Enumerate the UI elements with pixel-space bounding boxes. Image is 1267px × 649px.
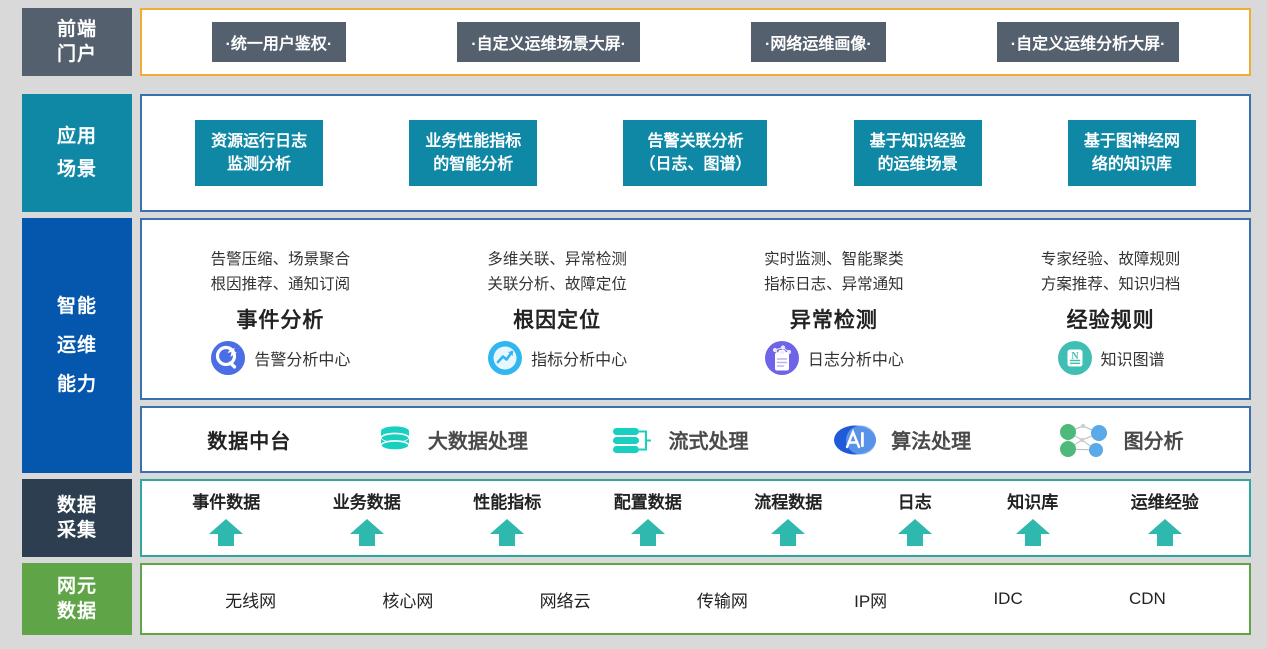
app-chip-line-2: 络的知识库 — [1084, 153, 1180, 176]
data-collection-row: 数据 采集 事件数据 业务数据 性能指标 配置数据 流程数据 — [0, 479, 1251, 557]
capability-line-1: 多维关联、异常检测 — [487, 248, 627, 272]
app-chip-line-2: 的智能分析 — [425, 153, 521, 176]
network-element-data-row: 网元 数据 无线网 核心网 网络云 传输网 IP网 IDC CDN — [0, 563, 1251, 635]
side-label-line-2: 运维 — [57, 333, 97, 358]
app-chip-gnn-knowledge-base[interactable]: 基于图神经网 络的知识库 — [1068, 120, 1196, 186]
network-element-item-core[interactable]: 核心网 — [382, 587, 433, 612]
portal-chip-custom-analysis-dashboard[interactable]: ·自定义运维分析大屏· — [997, 22, 1180, 62]
capability-experience-rules[interactable]: 专家经验、故障规则 方案推荐、知识归档 经验规则 N — [972, 220, 1249, 398]
up-arrow-icon — [895, 517, 935, 547]
side-label-line-2: 数据 — [57, 599, 97, 624]
app-chip-line-2: 监测分析 — [211, 153, 307, 176]
aiops-capability-side-label: 智能 运维 能力 — [22, 218, 132, 473]
collection-item-label: 业务数据 — [333, 488, 401, 513]
portal-chip-custom-ops-dashboard[interactable]: ·自定义运维场景大屏· — [457, 22, 640, 62]
alarm-analysis-icon — [210, 340, 246, 376]
up-arrow-icon — [1013, 517, 1053, 547]
side-label-line-2: 场景 — [57, 157, 97, 182]
app-chip-alarm-correlation-analysis[interactable]: 告警关联分析 （日志、图谱） — [623, 120, 767, 186]
up-arrow-icon — [347, 517, 387, 547]
portal-chip-unified-auth[interactable]: ·统一用户鉴权· — [212, 22, 347, 62]
side-label-line-2: 采集 — [57, 518, 97, 543]
application-scenario-side-label: 应用 场景 — [22, 94, 132, 212]
side-label-line-1: 智能 — [57, 294, 97, 319]
capability-product[interactable]: 日志分析中心 — [764, 340, 904, 376]
side-label-line-2: 门户 — [57, 42, 97, 67]
app-chip-line-1: 资源运行日志 — [211, 130, 307, 153]
capability-line-2: 根因推荐、通知订阅 — [211, 273, 351, 297]
stream-processing-icon — [610, 422, 656, 458]
data-platform-item-label: 算法处理 — [891, 425, 971, 454]
capability-line-1: 告警压缩、场景聚合 — [211, 248, 351, 272]
ai-algorithm-icon — [831, 422, 879, 458]
app-chip-line-2: （日志、图谱） — [639, 153, 751, 176]
app-chip-line-2: 的运维场景 — [870, 153, 966, 176]
side-label-line-1: 前端 — [57, 17, 97, 42]
up-arrow-icon — [206, 517, 246, 547]
network-element-item-wireless[interactable]: 无线网 — [225, 587, 276, 612]
knowledge-graph-icon: N — [1057, 340, 1093, 376]
up-arrow-icon — [487, 517, 527, 547]
network-element-panel: 无线网 核心网 网络云 传输网 IP网 IDC CDN — [140, 563, 1251, 635]
app-chip-resource-log-monitoring[interactable]: 资源运行日志 监测分析 — [195, 120, 323, 186]
application-scenario-panel: 资源运行日志 监测分析 业务性能指标 的智能分析 告警关联分析 （日志、图谱） … — [140, 94, 1251, 212]
app-chip-line-1: 告警关联分析 — [639, 130, 751, 153]
collection-item-ops-experience[interactable]: 运维经验 — [1131, 481, 1199, 555]
aiops-capability-panel: 告警压缩、场景聚合 根因推荐、通知订阅 事件分析 — [140, 218, 1251, 400]
graph-analysis-icon — [1054, 419, 1112, 461]
capability-product-label: 日志分析中心 — [808, 346, 904, 370]
collection-item-process-data[interactable]: 流程数据 — [754, 481, 822, 555]
frontend-portal-row: 前端 门户 ·统一用户鉴权· ·自定义运维场景大屏· ·网络运维画像· ·自定义… — [0, 8, 1251, 76]
data-platform-item-algorithm[interactable]: 算法处理 — [831, 422, 971, 458]
capability-line-2: 关联分析、故障定位 — [487, 273, 627, 297]
app-chip-line-1: 基于知识经验 — [870, 130, 966, 153]
capability-anomaly-detection[interactable]: 实时监测、智能聚类 指标日志、异常通知 异常检测 — [696, 220, 973, 398]
capability-product-label: 指标分析中心 — [531, 346, 627, 370]
collection-item-performance-kpi[interactable]: 性能指标 — [473, 481, 541, 555]
collection-item-label: 知识库 — [1007, 488, 1058, 513]
data-platform-item-bigdata[interactable]: 大数据处理 — [374, 422, 528, 458]
data-platform-item-label: 大数据处理 — [428, 425, 528, 454]
side-label-line-1: 网元 — [57, 574, 97, 599]
collection-item-event-data[interactable]: 事件数据 — [192, 481, 260, 555]
data-platform-item-label: 流式处理 — [668, 425, 748, 454]
collection-item-label: 配置数据 — [614, 488, 682, 513]
collection-item-config-data[interactable]: 配置数据 — [614, 481, 682, 555]
data-collection-side-label: 数据 采集 — [22, 479, 132, 557]
database-stack-icon — [374, 422, 416, 458]
architecture-diagram: 前端 门户 ·统一用户鉴权· ·自定义运维场景大屏· ·网络运维画像· ·自定义… — [0, 0, 1267, 649]
frontend-portal-panel: ·统一用户鉴权· ·自定义运维场景大屏· ·网络运维画像· ·自定义运维分析大屏… — [140, 8, 1251, 76]
collection-item-business-data[interactable]: 业务数据 — [333, 481, 401, 555]
aiops-capability-row: 智能 运维 能力 告警压缩、场景聚合 根因推荐、通知订阅 事件分析 — [0, 218, 1251, 473]
capability-title: 异常检测 — [790, 304, 878, 334]
capability-product[interactable]: N 知识图谱 — [1057, 340, 1165, 376]
collection-item-logs[interactable]: 日志 — [895, 481, 935, 555]
data-platform-item-stream[interactable]: 流式处理 — [610, 422, 748, 458]
network-element-item-ip[interactable]: IP网 — [854, 587, 887, 612]
data-platform-panel: 数据中台 大数据处理 — [140, 406, 1251, 473]
collection-item-label: 日志 — [898, 488, 932, 513]
app-chip-line-1: 业务性能指标 — [425, 130, 521, 153]
network-element-item-cdn[interactable]: CDN — [1129, 589, 1166, 609]
collection-item-label: 事件数据 — [192, 488, 260, 513]
network-element-item-network-cloud[interactable]: 网络云 — [540, 587, 591, 612]
capability-product[interactable]: 告警分析中心 — [210, 340, 350, 376]
up-arrow-icon — [768, 517, 808, 547]
capability-product[interactable]: 指标分析中心 — [487, 340, 627, 376]
data-collection-panel: 事件数据 业务数据 性能指标 配置数据 流程数据 日志 — [140, 479, 1251, 557]
network-element-item-idc[interactable]: IDC — [993, 589, 1022, 609]
app-chip-business-kpi-analysis[interactable]: 业务性能指标 的智能分析 — [409, 120, 537, 186]
capability-product-label: 告警分析中心 — [254, 346, 350, 370]
capability-line-2: 方案推荐、知识归档 — [1041, 273, 1181, 297]
capability-title: 经验规则 — [1067, 304, 1155, 334]
frontend-portal-side-label: 前端 门户 — [22, 8, 132, 76]
collection-item-label: 流程数据 — [754, 488, 822, 513]
capability-line-2: 指标日志、异常通知 — [764, 273, 904, 297]
side-label-line-1: 数据 — [57, 493, 97, 518]
capability-root-cause-location[interactable]: 多维关联、异常检测 关联分析、故障定位 根因定位 指标分析中心 — [419, 220, 696, 398]
capability-title: 事件分析 — [236, 304, 324, 334]
collection-item-knowledge-base[interactable]: 知识库 — [1007, 481, 1058, 555]
aiops-stack: 告警压缩、场景聚合 根因推荐、通知订阅 事件分析 — [140, 218, 1251, 473]
up-arrow-icon — [628, 517, 668, 547]
capability-event-analysis[interactable]: 告警压缩、场景聚合 根因推荐、通知订阅 事件分析 — [142, 220, 419, 398]
side-label-line-3: 能力 — [57, 372, 97, 397]
log-analysis-icon — [764, 340, 800, 376]
data-platform-title: 数据中台 — [207, 425, 291, 454]
capability-line-1: 实时监测、智能聚类 — [764, 248, 904, 272]
data-platform-item-label: 图分析 — [1124, 425, 1184, 454]
capability-line-1: 专家经验、故障规则 — [1041, 248, 1181, 272]
portal-chip-network-ops-profile[interactable]: ·网络运维画像· — [751, 22, 886, 62]
app-chip-line-1: 基于图神经网 — [1084, 130, 1180, 153]
metric-analysis-icon — [487, 340, 523, 376]
collection-item-label: 性能指标 — [473, 488, 541, 513]
up-arrow-icon — [1145, 517, 1185, 547]
network-element-item-transport[interactable]: 传输网 — [697, 587, 748, 612]
side-label-line-1: 应用 — [57, 124, 97, 149]
application-scenario-row: 应用 场景 资源运行日志 监测分析 业务性能指标 的智能分析 告警关联分析 （日… — [0, 94, 1251, 212]
capability-title: 根因定位 — [513, 304, 601, 334]
capability-product-label: 知识图谱 — [1101, 346, 1165, 370]
data-platform-item-graph[interactable]: 图分析 — [1054, 419, 1184, 461]
collection-item-label: 运维经验 — [1131, 488, 1199, 513]
network-element-side-label: 网元 数据 — [22, 563, 132, 635]
app-chip-knowledge-based-ops[interactable]: 基于知识经验 的运维场景 — [854, 120, 982, 186]
